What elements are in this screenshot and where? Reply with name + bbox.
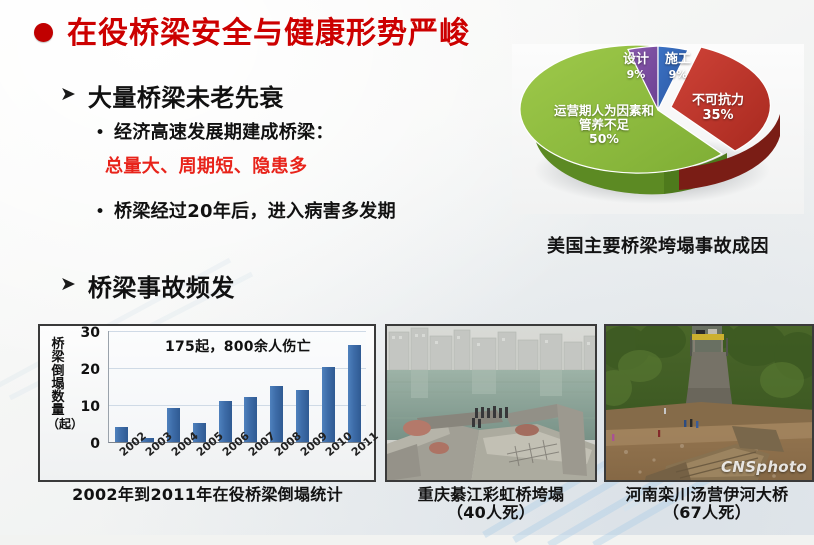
- sub-bullet-2: • 桥梁经过20年后，进入病害多发期: [95, 197, 396, 223]
- photo-henan-bridge: CNSphoto: [604, 324, 814, 482]
- emphasis-text: 总量大、周期短、隐患多: [105, 152, 307, 178]
- photo1-caption-line1: 重庆綦江彩虹桥垮塌: [418, 485, 565, 504]
- slide-canvas: 在役桥梁安全与健康形势严峻 ➤ 大量桥梁未老先衰 • 经济高速发展期建成桥梁： …: [0, 0, 814, 535]
- y-tick-0: 0: [74, 436, 100, 452]
- section-heading-1-label: 大量桥梁未老先衰: [88, 78, 284, 113]
- photo-chongqing-bridge: [385, 324, 597, 482]
- bar-chart-y-axis-title: 桥 梁 倒 塌 数 量 （起）: [47, 338, 69, 430]
- y-tick-30: 30: [74, 325, 100, 341]
- bar-chart-annotation: 175起，800余人伤亡: [118, 336, 358, 356]
- slide-title-row: 在役桥梁安全与健康形势严峻: [34, 8, 470, 52]
- pie-chart-caption: 美国主要桥梁垮塌事故成因: [512, 232, 804, 258]
- dot-bullet-icon: •: [95, 125, 105, 142]
- arrow-bullet-icon: ➤: [60, 85, 76, 104]
- y-tick-20: 20: [74, 362, 100, 378]
- pie-chart-svg: [512, 44, 804, 214]
- photo-watermark: CNSphoto: [721, 458, 807, 476]
- photo1-caption: 重庆綦江彩虹桥垮塌 （40人死）: [385, 486, 597, 523]
- photo1-caption-line2: （40人死）: [447, 503, 535, 522]
- y-tick-10: 10: [74, 399, 100, 415]
- photo2-caption-line2: （67人死）: [663, 503, 751, 522]
- sub-bullet-1: • 经济高速发展期建成桥梁：: [95, 118, 334, 144]
- sub-bullet-2-label: 桥梁经过20年后，进入病害多发期: [114, 197, 396, 223]
- filled-circle-bullet-icon: [34, 23, 53, 42]
- section-heading-2-label: 桥梁事故频发: [88, 268, 235, 303]
- arrow-bullet-icon: ➤: [60, 275, 76, 294]
- page-title: 在役桥梁安全与健康形势严峻: [67, 8, 470, 52]
- bar-2011: [348, 345, 361, 442]
- bar-2010: [322, 367, 335, 442]
- pie-chart: 运营期人为因素和管养不足 50% 不可抗力 35% 设计 9% 施工 9%: [512, 44, 804, 214]
- photo2-caption-line1: 河南栾川汤营伊河大桥: [625, 485, 788, 504]
- sub-bullet-1-label: 经济高速发展期建成桥梁：: [114, 118, 334, 144]
- photo2-caption: 河南栾川汤营伊河大桥 （67人死）: [600, 486, 814, 523]
- section-heading-1: ➤ 大量桥梁未老先衰: [60, 78, 284, 113]
- section-heading-2: ➤ 桥梁事故频发: [60, 268, 235, 303]
- photo1-graphic: [387, 326, 597, 482]
- chart-caption: 2002年到2011年在役桥梁倒塌统计: [30, 486, 385, 504]
- dot-bullet-icon: •: [95, 204, 105, 221]
